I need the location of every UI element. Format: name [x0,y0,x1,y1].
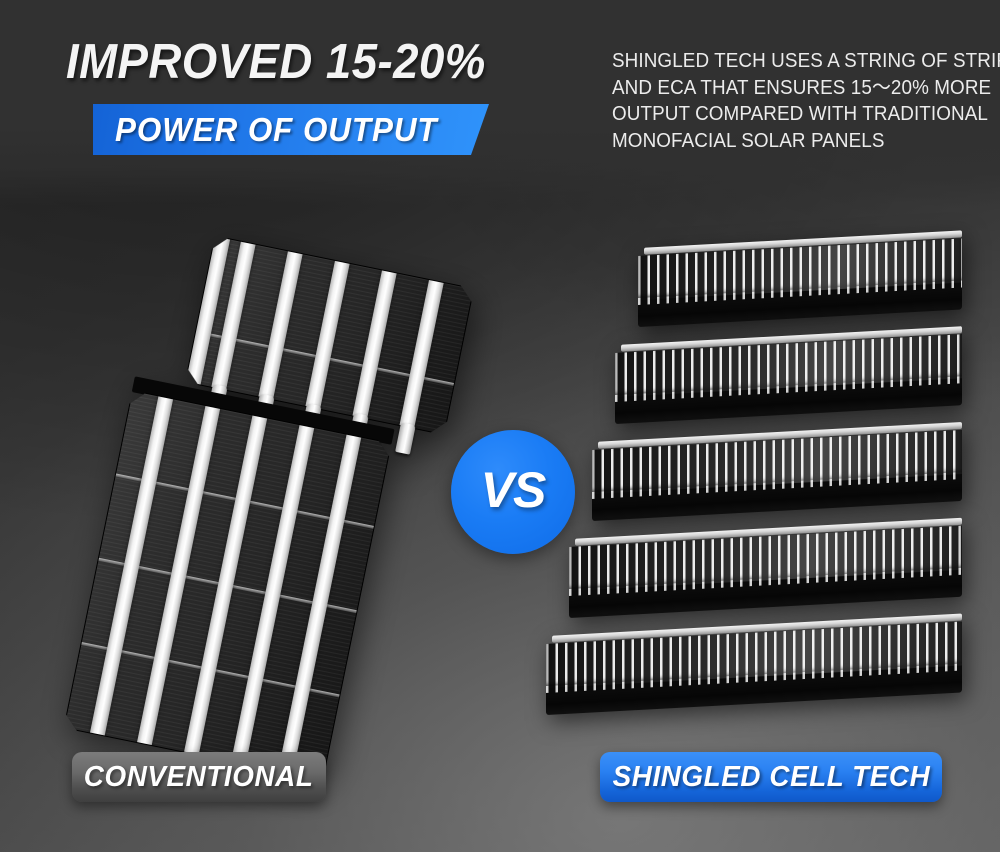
shingled-label-pill: SHINGLED CELL TECH [600,752,942,802]
shingled-label-text: SHINGLED CELL TECH [612,761,930,794]
conventional-label-pill: CONVENTIONAL [72,752,326,802]
shingled-strip [615,345,962,425]
shingled-strip [592,442,962,522]
vs-label: VS [481,461,546,519]
vs-badge: VS [451,430,575,554]
shingled-strip [638,248,962,328]
description-line-4: MONOFACIAL SOLAR PANELS [612,128,967,155]
description-line-2: AND ECA THAT ENSURES 15～20% MORE [612,75,967,102]
shingled-strips-illustration [540,240,1000,750]
conventional-cell-block-lower [63,390,391,781]
description-line-1: SHINGLED TECH USES A STRING OF STRIPS [612,48,967,75]
description-paragraph: SHINGLED TECH USES A STRING OF STRIPS AN… [612,48,967,154]
interconnect-ribbon [395,422,416,454]
infographic-canvas: IMPROVED 15-20% POWER OF OUTPUT SHINGLED… [0,0,1000,852]
conventional-label-text: CONVENTIONAL [84,761,314,794]
shingled-strip [569,539,962,619]
banner-label: POWER OF OUTPUT [115,111,438,149]
power-of-output-banner: POWER OF OUTPUT [93,104,489,155]
shingled-strip [546,636,962,716]
description-line-3: OUTPUT COMPARED WITH TRADITIONAL [612,101,967,128]
page-headline: IMPROVED 15-20% [66,38,486,87]
